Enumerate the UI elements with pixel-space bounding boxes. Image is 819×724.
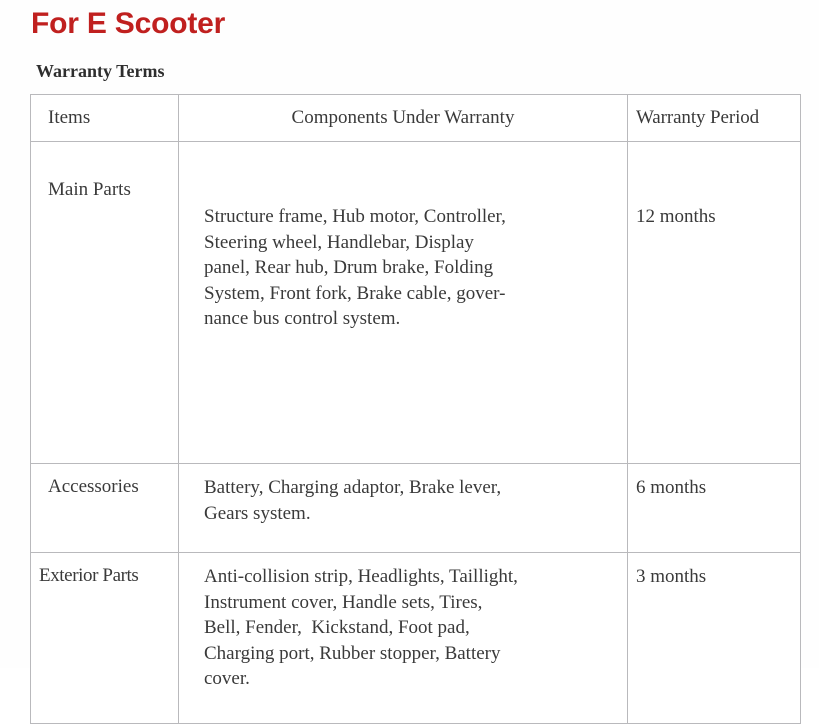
cell-item-exterior-parts: Exterior Parts: [31, 553, 179, 724]
cell-components-main-parts: Structure frame, Hub motor, Controller, …: [179, 142, 628, 464]
cell-components-accessories: Battery, Charging adaptor, Brake lever, …: [179, 464, 628, 553]
cell-period-accessories: 6 months: [628, 464, 801, 553]
section-subtitle: Warranty Terms: [36, 60, 165, 82]
table-row: Main Parts Structure frame, Hub motor, C…: [31, 142, 801, 464]
table-header-row: Items Components Under Warranty Warranty…: [31, 95, 801, 142]
cell-item-main-parts: Main Parts: [31, 142, 179, 464]
cell-period-main-parts: 12 months: [628, 142, 801, 464]
page-title: For E Scooter: [31, 7, 225, 41]
cell-components-exterior-parts: Anti-collision strip, Headlights, Tailli…: [179, 553, 628, 724]
cell-item-accessories: Accessories: [31, 464, 179, 553]
column-header-items: Items: [31, 95, 179, 142]
column-header-components: Components Under Warranty: [179, 95, 628, 142]
table-row: Accessories Battery, Charging adaptor, B…: [31, 464, 801, 553]
cell-period-exterior-parts: 3 months: [628, 553, 801, 724]
document-page: For E Scooter Warranty Terms Items Compo…: [0, 0, 819, 668]
table-row: Exterior Parts Anti-collision strip, Hea…: [31, 553, 801, 724]
warranty-terms-table: Items Components Under Warranty Warranty…: [30, 94, 801, 724]
column-header-warranty-period: Warranty Period: [628, 95, 801, 142]
